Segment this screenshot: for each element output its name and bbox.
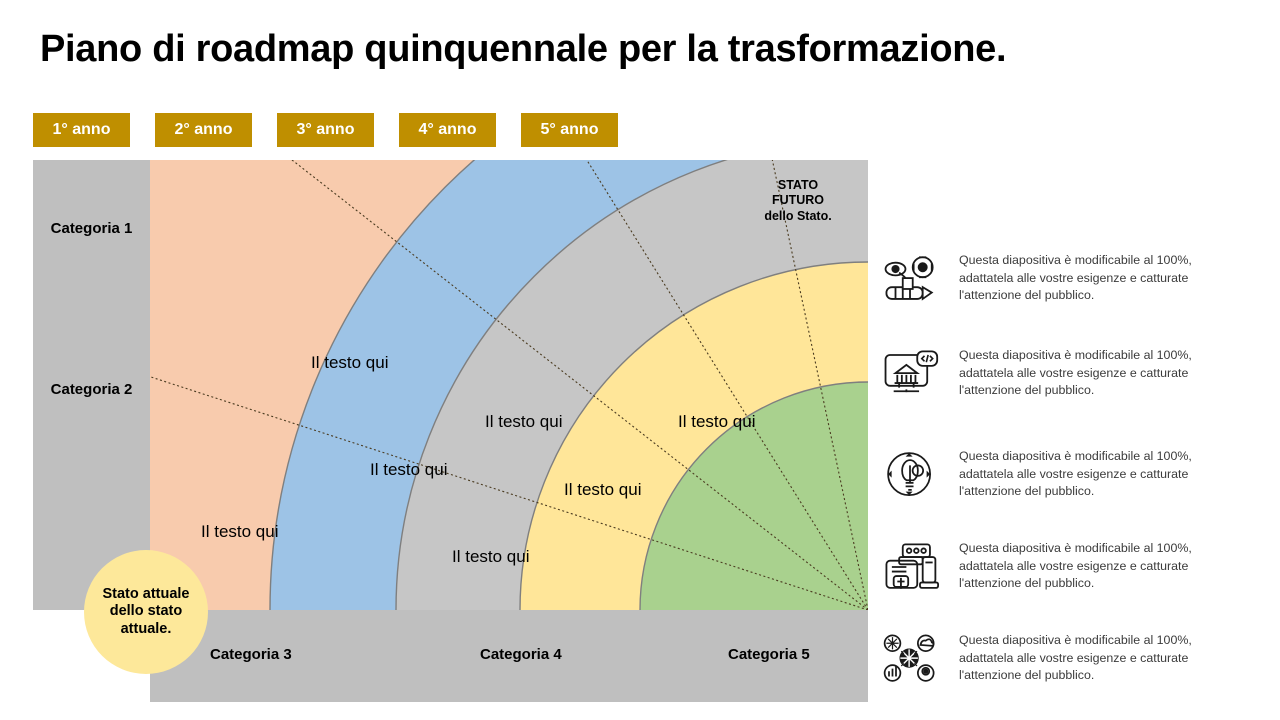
left-category-2: Categoria 2 [33, 381, 150, 398]
roadmap-svg [33, 160, 868, 610]
info-row: Questa diapositiva è modificabile al 100… [875, 444, 1275, 522]
bands-group [33, 160, 868, 610]
globe-network-icon [875, 628, 945, 690]
radial-roadmap-chart: Il testo quiIl testo quiIl testo quiIl t… [33, 160, 868, 610]
info-text: Questa diapositiva è modificabile al 100… [959, 252, 1227, 305]
bottom-category-5: Categoria 5 [728, 646, 810, 663]
bottom-category-bar: Categoria 3Categoria 4Categoria 5 [150, 610, 868, 702]
info-text: Questa diapositiva è modificabile al 100… [959, 347, 1227, 400]
info-row: Questa diapositiva è modificabile al 100… [875, 536, 1275, 614]
eye-gear-pencil-icon [875, 248, 945, 310]
year-tab-2[interactable]: 2° anno [155, 113, 252, 147]
info-row: Questa diapositiva è modificabile al 100… [875, 343, 1275, 421]
bottom-category-3: Categoria 3 [210, 646, 292, 663]
left-category-column: Categoria 1Categoria 2 [33, 160, 150, 610]
info-text: Questa diapositiva è modificabile al 100… [959, 540, 1227, 593]
printer-server-icon [875, 536, 945, 598]
future-state-label: STATO FUTURO dello Stato. [743, 178, 853, 224]
info-text: Questa diapositiva è modificabile al 100… [959, 448, 1227, 501]
year-tab-5[interactable]: 5° anno [521, 113, 618, 147]
info-row: Questa diapositiva è modificabile al 100… [875, 628, 1275, 706]
monitor-code-icon [875, 343, 945, 405]
year-tab-1[interactable]: 1° anno [33, 113, 130, 147]
bottom-category-4: Categoria 4 [480, 646, 562, 663]
info-text: Questa diapositiva è modificabile al 100… [959, 632, 1227, 685]
info-row: Questa diapositiva è modificabile al 100… [875, 248, 1275, 326]
page-title: Piano di roadmap quinquennale per la tra… [40, 28, 1006, 71]
current-state-bubble: Stato attuale dello stato attuale. [84, 550, 208, 674]
slide-canvas: Piano di roadmap quinquennale per la tra… [0, 0, 1280, 720]
year-tab-4[interactable]: 4° anno [399, 113, 496, 147]
year-tab-3[interactable]: 3° anno [277, 113, 374, 147]
bulb-gear-icon [875, 444, 945, 506]
left-category-1: Categoria 1 [33, 220, 150, 237]
